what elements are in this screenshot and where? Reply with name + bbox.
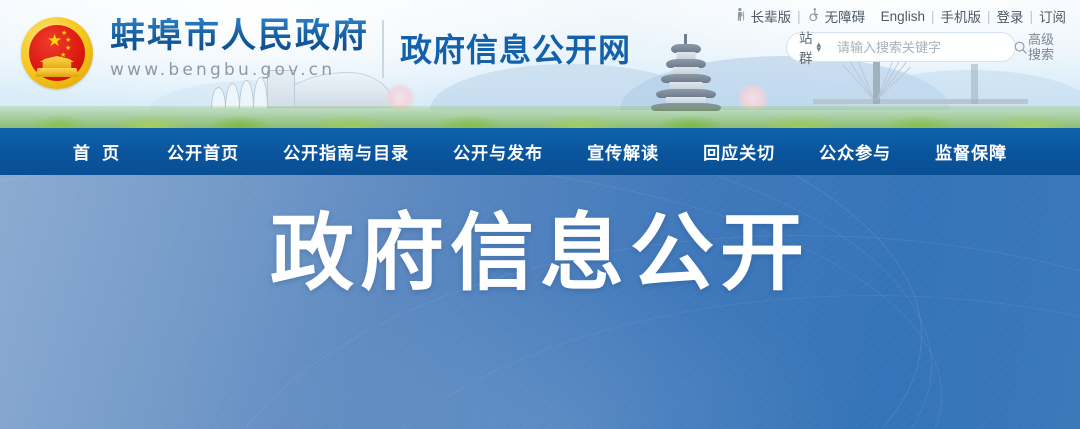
search-scope-dropdown[interactable]: 站群 ▴▾ bbox=[799, 27, 821, 67]
utility-item-login[interactable]: 登录 bbox=[996, 6, 1023, 26]
utility-item-mobile-version[interactable]: 手机版 bbox=[940, 6, 981, 26]
advanced-search-line1: 高级 bbox=[1028, 32, 1068, 47]
utility-separator: | bbox=[1029, 9, 1033, 24]
nav-item-interpretation[interactable]: 宣传解读 bbox=[565, 139, 681, 164]
search-icon[interactable] bbox=[1013, 40, 1028, 55]
nav-item-supervision[interactable]: 监督保障 bbox=[913, 139, 1029, 164]
utility-item-elder-version[interactable]: 长辈版 bbox=[733, 6, 792, 26]
advanced-search-link[interactable]: 高级 搜索 bbox=[1028, 32, 1068, 62]
accessibility-icon bbox=[807, 7, 822, 25]
nav-item-home[interactable]: 首 页 bbox=[51, 139, 145, 164]
government-url: www.bengbu.gov.cn bbox=[110, 60, 369, 80]
utility-label: 订阅 bbox=[1039, 6, 1066, 26]
nav-item-response[interactable]: 回应关切 bbox=[681, 139, 797, 164]
nav-item-oi-home[interactable]: 公开首页 bbox=[145, 139, 261, 164]
bridge-cable bbox=[847, 56, 874, 99]
hero-banner: 政府信息公开 bbox=[0, 175, 1080, 429]
utility-spacer: | bbox=[871, 9, 875, 24]
bridge-deck bbox=[813, 99, 1028, 104]
search-input[interactable] bbox=[837, 40, 1013, 55]
utility-separator: | bbox=[987, 9, 991, 24]
utility-label: 手机版 bbox=[940, 6, 981, 26]
utility-bar: 长辈版 | 无障碍 | English | 手机 bbox=[733, 6, 1066, 26]
emblem-base bbox=[35, 68, 79, 77]
search-bar: 站群 ▴▾ bbox=[786, 32, 1016, 62]
utility-item-subscribe[interactable]: 订阅 bbox=[1039, 6, 1066, 26]
utility-label: English bbox=[881, 9, 925, 24]
emblem-star-large: ★ bbox=[47, 32, 62, 49]
utility-label: 登录 bbox=[996, 6, 1023, 26]
emblem-star-small: ★ bbox=[61, 30, 67, 37]
main-navigation: 首 页 公开首页 公开指南与目录 公开与发布 宣传解读 回应关切 公众参与 监督… bbox=[0, 128, 1080, 175]
utility-item-english[interactable]: English bbox=[881, 9, 925, 24]
green-treeline bbox=[0, 106, 1080, 128]
banner-title: 政府信息公开 bbox=[0, 213, 1080, 297]
pagoda-illustration bbox=[650, 34, 722, 110]
logo-text-block: 蚌埠市人民政府 www.bengbu.gov.cn bbox=[110, 14, 369, 80]
site-logo[interactable]: ★ ★ ★ ★ ★ 蚌埠市人民政府 www.bengbu.gov.cn bbox=[18, 14, 369, 92]
search-scope-label: 站群 bbox=[799, 27, 813, 67]
advanced-search-line2: 搜索 bbox=[1028, 47, 1068, 62]
bridge-pylon bbox=[971, 64, 978, 104]
nav-item-participation[interactable]: 公众参与 bbox=[797, 139, 913, 164]
chevron-updown-icon: ▴▾ bbox=[817, 42, 822, 52]
nav-item-guide-catalog[interactable]: 公开指南与目录 bbox=[261, 139, 431, 164]
utility-item-accessibility[interactable]: 无障碍 bbox=[807, 6, 866, 26]
utility-label: 无障碍 bbox=[825, 6, 866, 26]
national-emblem-icon: ★ ★ ★ ★ ★ bbox=[18, 14, 96, 92]
utility-label: 长辈版 bbox=[751, 6, 792, 26]
bridge-cable bbox=[842, 64, 874, 99]
emblem-star-small: ★ bbox=[65, 45, 71, 52]
page-root: ★ ★ ★ ★ ★ 蚌埠市人民政府 www.bengbu.gov.cn 政府信息… bbox=[0, 0, 1080, 429]
site-title: 政府信息公开网 bbox=[400, 25, 631, 71]
logo-divider bbox=[382, 20, 384, 78]
nav-item-publish[interactable]: 公开与发布 bbox=[431, 139, 565, 164]
elder-icon bbox=[733, 7, 748, 25]
emblem-star-small: ★ bbox=[65, 37, 71, 44]
utility-separator: | bbox=[797, 9, 801, 24]
utility-separator: | bbox=[931, 9, 935, 24]
government-name: 蚌埠市人民政府 bbox=[110, 18, 369, 53]
site-header: ★ ★ ★ ★ ★ 蚌埠市人民政府 www.bengbu.gov.cn 政府信息… bbox=[0, 0, 1080, 128]
